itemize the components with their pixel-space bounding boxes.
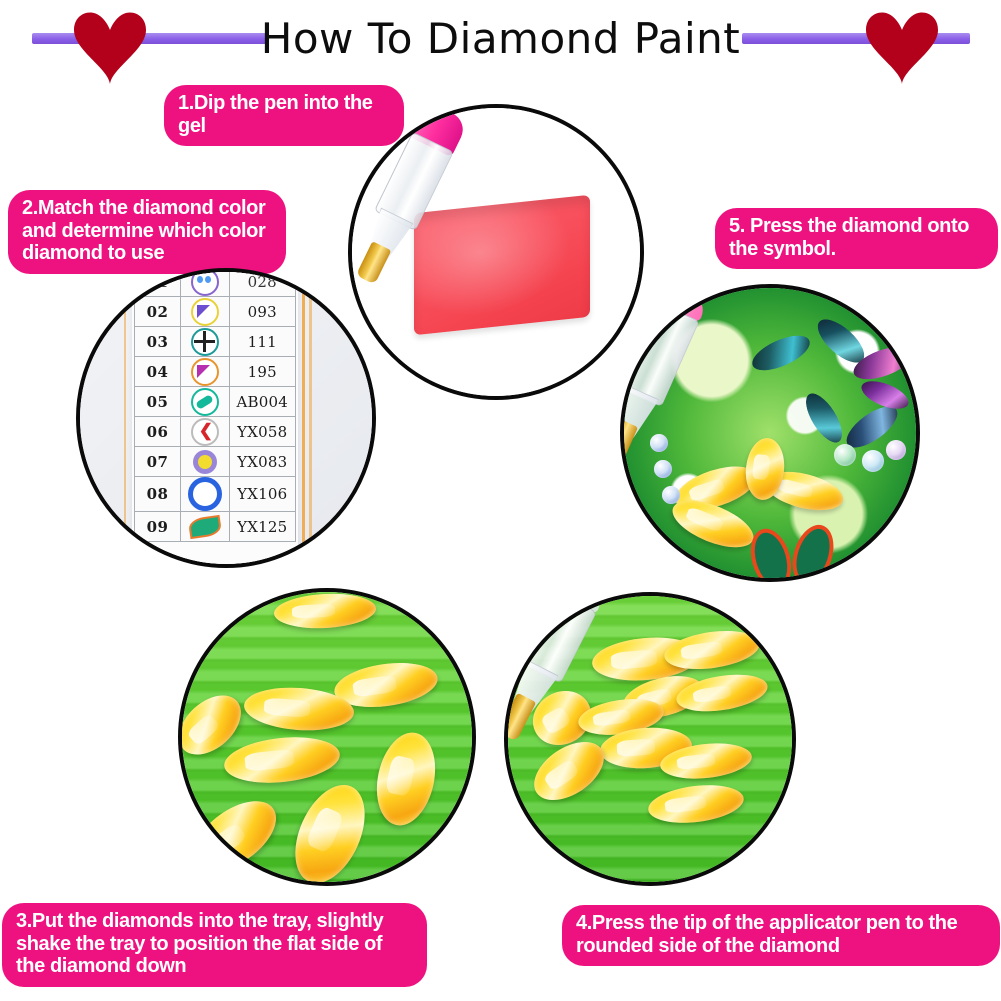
round-gem xyxy=(886,440,906,460)
leaf-symbol xyxy=(188,514,222,538)
color-chart-row: 08YX106 xyxy=(135,477,296,512)
chart-cell-symbol xyxy=(181,297,229,327)
pen-tip xyxy=(620,419,638,462)
chart-cell-no: 06 xyxy=(135,417,181,447)
chart-cell-no: 02 xyxy=(135,297,181,327)
chart-cell-symbol xyxy=(181,447,229,477)
color-chart-row: 02093 xyxy=(135,297,296,327)
round-gem xyxy=(862,450,884,472)
chart-cell-symbol xyxy=(181,387,229,417)
chart-margin-line xyxy=(302,268,305,568)
chart-cell-code: YX125 xyxy=(229,512,295,542)
chart-margin-line xyxy=(124,268,126,568)
diamonds-in-tray-photo xyxy=(178,588,476,886)
chart-cell-symbol xyxy=(181,477,229,512)
chart-cell-code: 028 xyxy=(229,268,295,297)
page-title: How To Diamond Paint xyxy=(0,14,1001,63)
chart-cell-no: 07 xyxy=(135,447,181,477)
plus-symbol xyxy=(191,328,219,356)
page-header: How To Diamond Paint xyxy=(0,0,1001,72)
step-4-label: 4.Press the tip of the applicator pen to… xyxy=(562,905,1000,966)
chart-cell-symbol xyxy=(181,268,229,297)
chart-cell-no: 04 xyxy=(135,357,181,387)
color-chart-photo: 0102802093031110419505AB00406❮YX05807YX0… xyxy=(76,268,376,568)
chart-cell-no: 09 xyxy=(135,512,181,542)
color-chart-row: 04195 xyxy=(135,357,296,387)
color-chart-row: 05AB004 xyxy=(135,387,296,417)
face-symbol xyxy=(191,268,219,296)
color-chart-row: 07YX083 xyxy=(135,447,296,477)
chart-cell-code: YX083 xyxy=(229,447,295,477)
pen-dipping-into-gel-photo xyxy=(348,104,644,400)
chart-cell-no: 08 xyxy=(135,477,181,512)
step-2-label: 2.Match the diamond color and determine … xyxy=(8,190,286,274)
chart-cell-no: 03 xyxy=(135,327,181,357)
color-chart-row: 01028 xyxy=(135,268,296,297)
chart-cell-code: 111 xyxy=(229,327,295,357)
triangle-symbol xyxy=(191,358,219,386)
color-chart-row: 03111 xyxy=(135,327,296,357)
chart-cell-no: 01 xyxy=(135,268,181,297)
chart-cell-symbol xyxy=(181,357,229,387)
chart-cell-code: YX106 xyxy=(229,477,295,512)
chart-margin-line xyxy=(309,268,312,568)
chart-cell-symbol: ❮ xyxy=(181,417,229,447)
chart-cell-no: 05 xyxy=(135,387,181,417)
chart-cell-symbol xyxy=(181,512,229,542)
pen-tip xyxy=(504,693,536,742)
chart-cell-code: AB004 xyxy=(229,387,295,417)
applicator-pen-on-diamond-photo xyxy=(504,592,796,886)
chart-cell-code: 093 xyxy=(229,297,295,327)
step-3-label: 3.Put the diamonds into the tray, slight… xyxy=(2,903,427,987)
chevron-symbol: ❮ xyxy=(191,418,219,446)
ring-symbol xyxy=(188,477,222,511)
color-chart-row: 06❮YX058 xyxy=(135,417,296,447)
color-chart-row: 09YX125 xyxy=(135,512,296,542)
triangle-symbol xyxy=(191,298,219,326)
ring-dot-symbol xyxy=(193,450,217,474)
color-chart-table: 0102802093031110419505AB00406❮YX05807YX0… xyxy=(134,268,296,542)
chart-cell-code: 195 xyxy=(229,357,295,387)
chart-cell-symbol xyxy=(181,327,229,357)
round-gem xyxy=(834,444,856,466)
capsule-symbol xyxy=(191,388,219,416)
chart-cell-code: YX058 xyxy=(229,417,295,447)
step-5-label: 5. Press the diamond onto the symbol. xyxy=(715,208,998,269)
pressing-diamond-onto-canvas-photo xyxy=(620,284,920,582)
